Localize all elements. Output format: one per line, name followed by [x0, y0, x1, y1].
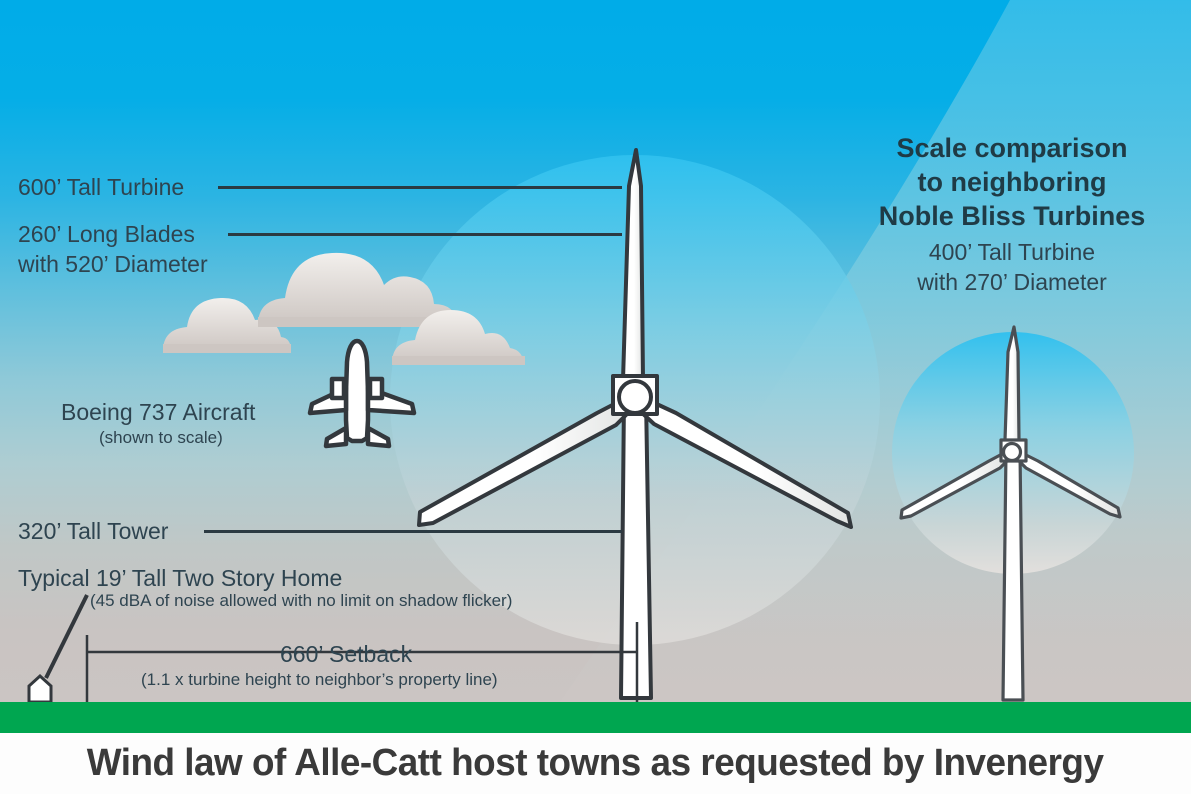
infographic-root: 600’ Tall Turbine 260’ Long Blades with …	[0, 0, 1191, 794]
label-blade-length-line2: with 520’ Diameter	[18, 251, 208, 278]
ground-band	[0, 702, 1191, 733]
label-setback-line1: 660’ Setback	[272, 641, 420, 668]
label-turbine-height: 600’ Tall Turbine	[18, 174, 184, 201]
leader-line-turbine-height	[218, 186, 622, 189]
caption-text: Wind law of Alle-Catt host towns as requ…	[87, 742, 1104, 785]
label-home-line2: (45 dBA of noise allowed with no limit o…	[90, 591, 512, 611]
label-blade-length-line1: 260’ Long Blades	[18, 221, 195, 248]
label-aircraft-line2: (shown to scale)	[99, 428, 223, 448]
header-line-4: 400’ Tall Turbine	[864, 237, 1160, 268]
label-tower-height: 320’ Tall Tower	[18, 518, 168, 545]
header-line-3: Noble Bliss Turbines	[858, 200, 1166, 233]
header-line-5: with 270’ Diameter	[864, 267, 1160, 298]
caption-bar: Wind law of Alle-Catt host towns as requ…	[0, 733, 1191, 794]
leader-line-tower-height	[204, 530, 622, 533]
label-setback-line2: (1.1 x turbine height to neighbor’s prop…	[141, 670, 498, 690]
header-line-1: Scale comparison	[864, 132, 1160, 165]
header-line-2: to neighboring	[864, 166, 1160, 199]
leader-line-blade-length	[228, 233, 622, 236]
label-home-line1: Typical 19’ Tall Two Story Home	[18, 565, 342, 592]
label-aircraft-line1: Boeing 737 Aircraft	[61, 399, 255, 426]
